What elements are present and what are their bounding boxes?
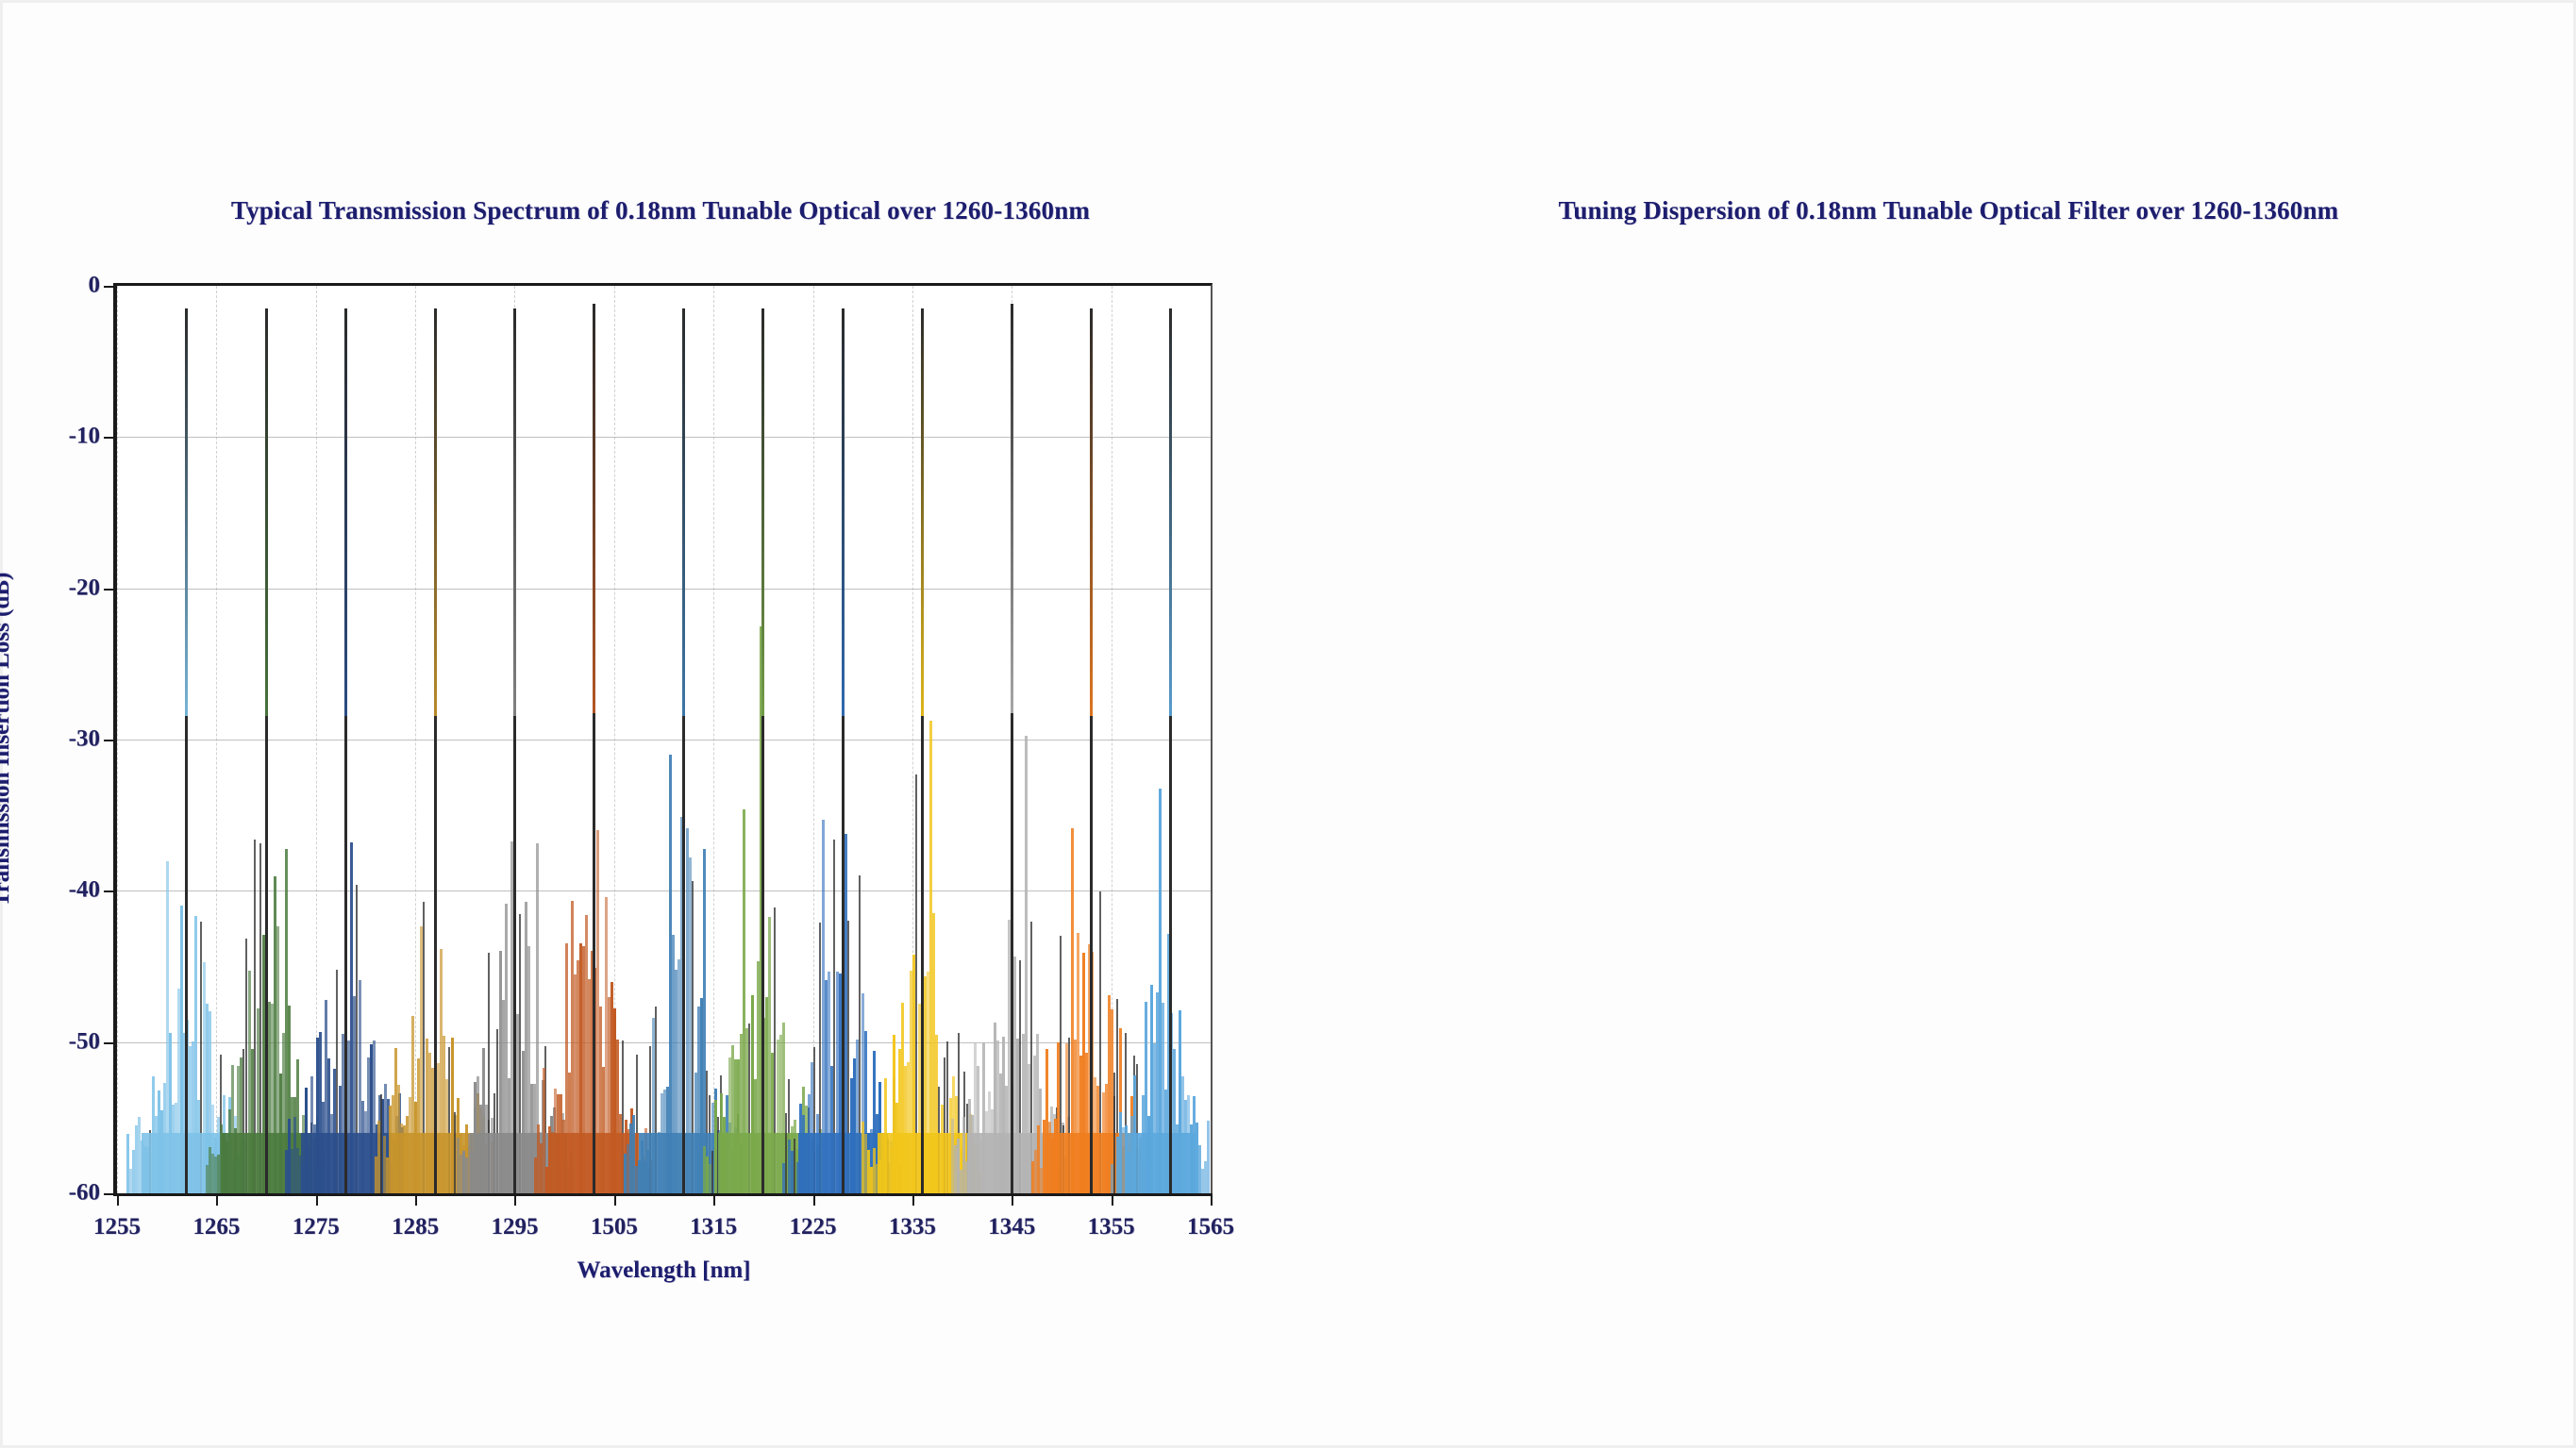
transmission-peak [434,308,437,1193]
peak-tip [1090,308,1093,715]
peak-tip [842,308,845,715]
transmission-peak [761,308,764,1193]
peak-tip [434,308,437,715]
transmission-peak [921,308,924,1193]
spectrum-xtick-label: 1315 [690,1214,737,1240]
spectrum-xaxis-title: Wavelength [nm] [577,1257,750,1284]
spectrum-traces [117,286,1211,1193]
peak-tip [344,308,347,715]
peak-tip [1011,304,1013,713]
spectrum-xtick-label: 1295 [491,1214,538,1240]
transmission-peak [1011,304,1013,1193]
transmission-peak [593,304,595,1193]
left-chart-panel: Typical Transmission Spectrum of 0.18nm … [0,0,1321,1448]
transmission-peak [1169,308,1172,1193]
spectrum-ytick-label: 0 [89,272,101,298]
transmission-peak [682,308,685,1193]
noise-bar [794,1139,795,1193]
spectrum-ytick [104,1193,117,1195]
spectrum-xtick [813,1193,815,1206]
transmission-peak [265,308,268,1193]
spectrum-xtick [415,1193,417,1206]
spectrum-ytick [104,890,117,892]
peak-tip [185,308,188,715]
spectrum-xtick-label: 1285 [392,1214,439,1240]
peak-tip [761,308,764,715]
peak-tip [513,308,516,715]
spectrum-xtick [912,1193,914,1206]
spectrum-xtick [1211,1193,1213,1206]
spectrum-ytick-label: -30 [69,725,100,752]
peak-tip [921,308,924,715]
spectrum-ytick [104,286,117,288]
spectrum-xtick-label: 1225 [790,1214,837,1240]
spectrum-yaxis-title: Transmission Insertion Loss (dB) [0,573,15,907]
spectrum-ytick [104,1042,117,1044]
spectrum-ytick [104,437,117,439]
noise-bar [785,1113,787,1193]
spectrum-xtick [316,1193,318,1206]
right-chart-panel: Tuning Dispersion of 0.18nm Tunable Opti… [1321,0,2576,1448]
spectrum-xtick-label: 1265 [192,1214,240,1240]
spectrum-xtick-label: 1335 [889,1214,936,1240]
spectrum-ytick [104,740,117,741]
peak-tip [593,304,595,713]
spectrum-xtick [713,1193,715,1206]
spectrum-ytick-label: -60 [69,1179,100,1206]
spectrum-xtick [514,1193,516,1206]
spectrum-xtick-label: 1255 [93,1214,141,1240]
spectrum-xtick [1112,1193,1113,1206]
spectrum-xtick [117,1193,119,1206]
spectrum-ytick-label: -50 [69,1028,100,1055]
transmission-peak [344,308,347,1193]
noise-bar [915,774,917,1193]
right-chart-title: Tuning Dispersion of 0.18nm Tunable Opti… [1321,196,2576,225]
spectrum-ytick-label: -20 [69,574,100,601]
peak-tip [265,308,268,715]
noise-bar [711,1151,713,1193]
transmission-peak [842,308,845,1193]
noise-base-block [1126,1133,1195,1193]
spectrum-xtick-label: 1505 [591,1214,638,1240]
noise-bar [380,1094,382,1193]
spectrum-xtick [216,1193,218,1206]
left-chart-title: Typical Transmission Spectrum of 0.18nm … [0,196,1453,225]
spectrum-xtick-label: 1355 [1088,1214,1135,1240]
peak-tip [1169,308,1172,715]
noise-bar [1113,1096,1115,1193]
spectrum-ytick-label: -40 [69,877,100,904]
spectrum-ytick-label: -10 [69,424,100,450]
spectrum-xtick-label: 1345 [988,1214,1035,1240]
spectrum-xtick [1012,1193,1013,1206]
spectrum-xtick-label: 1565 [1187,1214,1234,1240]
spectrum-xtick [614,1193,616,1206]
noise-bar [1207,1121,1210,1193]
spectrum-plot-area: 0-10-20-30-40-50-60125512651275128512951… [113,283,1213,1196]
transmission-peak [513,308,516,1193]
noise-bar [454,1112,456,1193]
transmission-peak [1090,308,1093,1193]
spectrum-ytick [104,589,117,591]
figure-page: Typical Transmission Spectrum of 0.18nm … [0,0,2576,1448]
spectrum-xtick-label: 1275 [293,1214,340,1240]
transmission-peak [185,308,188,1193]
peak-tip [682,308,685,715]
noise-band [1111,286,1211,1193]
